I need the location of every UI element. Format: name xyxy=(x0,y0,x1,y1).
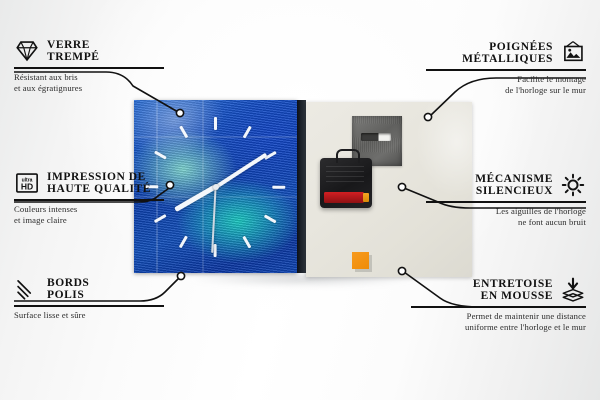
callout-spacer-header: ENTRETOISE EN MOUSSE xyxy=(411,277,586,303)
callout-handles-title: POIGNÉES MÉTALLIQUES xyxy=(462,41,553,66)
callout-print-desc-2: et image claire xyxy=(14,215,164,225)
callout-spacer-desc-2: uniforme entre l'horloge et le mur xyxy=(411,322,586,332)
callout-mechanism-header: MÉCANISME SILENCIEUX xyxy=(426,172,586,198)
callout-handles-rule xyxy=(426,69,586,71)
callout-print-desc-1: Couleurs intenses xyxy=(14,204,164,214)
callout-glass-rule xyxy=(14,67,164,69)
hanger-keyhole-slot xyxy=(361,133,391,141)
callout-spacer: ENTRETOISE EN MOUSSE Permet de maintenir… xyxy=(411,277,586,332)
callout-mechanism-rule xyxy=(426,201,586,203)
callout-handles-desc-1: Facilite le montage xyxy=(426,74,586,84)
callout-glass: VERRE TREMPÉ Résistant aux bris et aux é… xyxy=(14,38,164,93)
foam-spacer-icon xyxy=(560,277,586,303)
foam-spacer xyxy=(352,252,369,269)
callout-print-header: ultra HD IMPRESSION DE HAUTE QUALITÉ xyxy=(14,170,164,196)
battery xyxy=(324,192,364,203)
callout-mechanism-desc-2: ne font aucun bruit xyxy=(426,217,586,227)
clock-mechanism xyxy=(320,158,372,208)
callout-mechanism-desc-1: Les aiguilles de l'horloge xyxy=(426,206,586,216)
mechanism-texture xyxy=(326,166,364,186)
callout-edges-title: BORDS POLIS xyxy=(47,277,89,302)
hands-center-cap xyxy=(213,184,219,190)
callout-print-title: IMPRESSION DE HAUTE QUALITÉ xyxy=(47,171,151,196)
ultra-hd-icon: ultra HD xyxy=(14,170,40,196)
callout-mechanism-title: MÉCANISME SILENCIEUX xyxy=(475,173,553,198)
callout-spacer-rule xyxy=(411,306,586,308)
callout-edges-desc-1: Surface lisse et sûre xyxy=(14,310,164,320)
mechanism-hanging-loop xyxy=(336,149,360,163)
callout-edges-rule xyxy=(14,305,164,307)
callout-handles-desc-2: de l'horloge sur le mur xyxy=(426,85,586,95)
callout-edges: BORDS POLIS Surface lisse et sûre xyxy=(14,276,164,321)
callout-handles: POIGNÉES MÉTALLIQUES Facilite le montage… xyxy=(426,40,586,95)
infographic-stage: VERRE TREMPÉ Résistant aux bris et aux é… xyxy=(0,0,600,400)
polished-edges-icon xyxy=(14,276,40,302)
callout-glass-desc-1: Résistant aux bris xyxy=(14,72,164,82)
callout-print: ultra HD IMPRESSION DE HAUTE QUALITÉ Cou… xyxy=(14,170,164,225)
callout-spacer-desc-1: Permet de maintenir une distance xyxy=(411,311,586,321)
callout-print-rule xyxy=(14,199,164,201)
product-image xyxy=(134,100,472,280)
clock-side-edge xyxy=(297,100,306,273)
callout-glass-header: VERRE TREMPÉ xyxy=(14,38,164,64)
svg-text:HD: HD xyxy=(21,182,33,192)
callout-glass-title: VERRE TREMPÉ xyxy=(47,39,100,64)
callout-glass-desc-2: et aux égratignures xyxy=(14,83,164,93)
callout-edges-header: BORDS POLIS xyxy=(14,276,164,302)
wall-frame-icon xyxy=(560,40,586,66)
gear-icon xyxy=(560,172,586,198)
callout-spacer-title: ENTRETOISE EN MOUSSE xyxy=(473,278,553,303)
diamond-icon xyxy=(14,38,40,64)
callout-handles-header: POIGNÉES MÉTALLIQUES xyxy=(426,40,586,66)
callout-mechanism: MÉCANISME SILENCIEUX Les aiguilles de l'… xyxy=(426,172,586,227)
